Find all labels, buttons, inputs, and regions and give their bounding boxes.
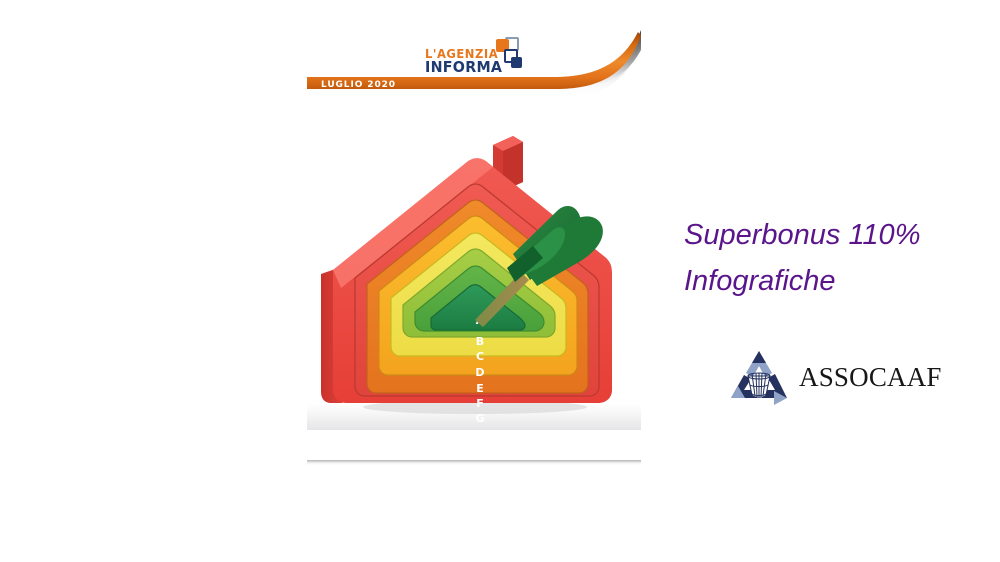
energy-class-house-illustration: A B C D E F G: [307, 128, 641, 448]
assocaaf-wordmark: ASSOCAAF: [799, 362, 942, 393]
lagenzia-informa-logo: L'AGENZIA INFORMA: [425, 37, 535, 77]
svg-text:G: G: [475, 412, 484, 425]
house-energy-chart-graphic: A B C D E F G: [307, 128, 641, 448]
slide-canvas: L'AGENZIA INFORMA LUGLIO 2020: [0, 0, 1000, 562]
title-line-1: Superbonus 110%: [684, 212, 994, 258]
logo-square-blue: [511, 57, 522, 68]
title-line-2: Infografiche: [684, 258, 994, 304]
cover-page-drop-shadow: [307, 460, 641, 465]
issue-date-tag: LUGLIO 2020: [307, 77, 406, 93]
svg-text:E: E: [476, 382, 484, 395]
svg-text:D: D: [475, 366, 484, 379]
cover-document-page: L'AGENZIA INFORMA LUGLIO 2020: [307, 20, 641, 463]
assocaaf-logo: ASSOCAAF: [727, 348, 917, 410]
assocaaf-recycle-triangle-icon: [727, 348, 791, 410]
svg-text:C: C: [476, 350, 484, 363]
cover-header-band: L'AGENZIA INFORMA LUGLIO 2020: [307, 20, 641, 130]
svg-text:F: F: [476, 397, 484, 410]
svg-text:B: B: [476, 335, 484, 348]
title-block: Superbonus 110% Infografiche: [684, 212, 994, 304]
logo-word-informa: INFORMA: [425, 58, 502, 76]
